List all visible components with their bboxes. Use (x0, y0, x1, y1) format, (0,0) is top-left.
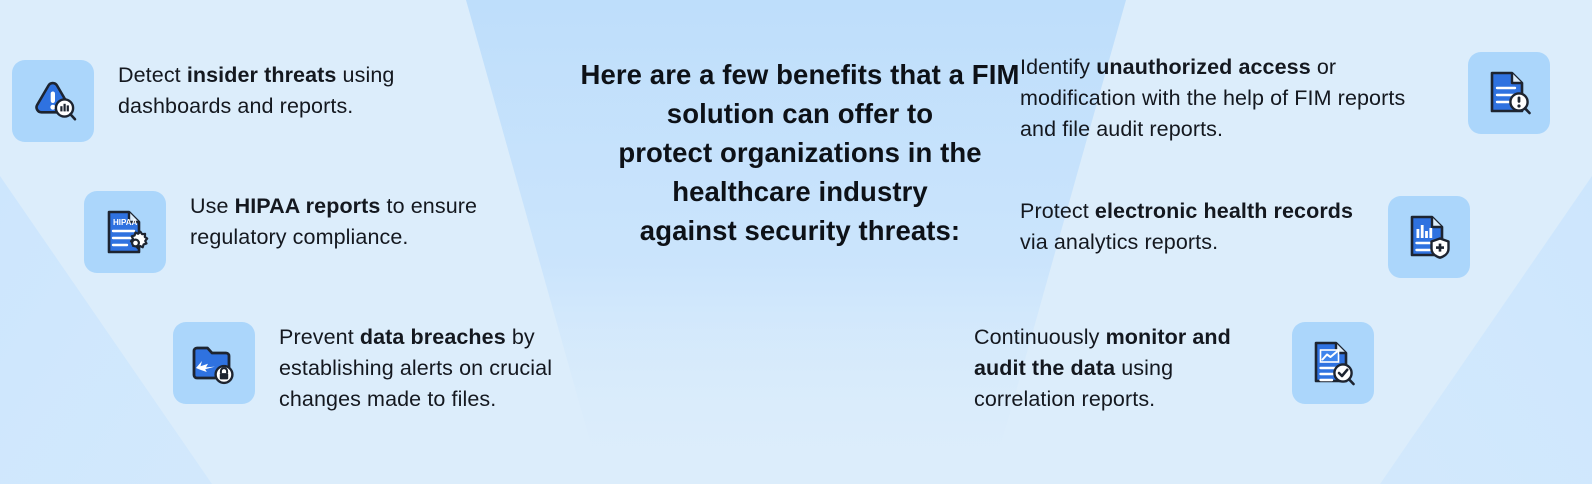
text-bold: data breaches (360, 325, 506, 349)
warning-analytics-icon (27, 75, 79, 127)
svg-text:HIPAA: HIPAA (113, 218, 138, 227)
document-graph-verified-icon-tile (1292, 322, 1374, 404)
benefit-hipaa-reports: HIPAA Use HIPAA reports to ensure regula… (84, 191, 524, 273)
benefit-hipaa-reports-text: Use HIPAA reports to ensure regulatory c… (190, 191, 524, 253)
headline-line-2: solution can offer to (520, 94, 1080, 133)
document-alert-search-icon-tile (1468, 52, 1550, 134)
document-chart-shield-icon (1404, 212, 1454, 262)
document-chart-shield-icon-tile (1388, 196, 1470, 278)
text-bold: unauthorized access (1096, 55, 1311, 79)
warning-analytics-icon-tile (12, 60, 94, 142)
benefit-insider-threats-text: Detect insider threats using dashboards … (118, 60, 472, 122)
page-title: Here are a few benefits that a FIM solut… (520, 55, 1080, 250)
fim-healthcare-benefits-infographic: Detect insider threats using dashboards … (0, 0, 1592, 484)
headline-line-3: protect organizations in the (520, 133, 1080, 172)
broken-folder-lock-icon-tile (173, 322, 255, 404)
document-graph-verified-icon (1308, 338, 1358, 388)
hipaa-document-gear-icon-tile: HIPAA (84, 191, 166, 273)
text-pre: Use (190, 194, 235, 218)
text-pre: Continuously (974, 325, 1106, 349)
benefit-monitor-audit-data: Continuously monitor and audit the data … (974, 322, 1374, 415)
document-alert-search-icon (1484, 68, 1534, 118)
text-pre: Detect (118, 63, 187, 87)
text-bold: electronic health records (1095, 199, 1353, 223)
benefit-unauthorized-access: Identify unauthorized access or modifica… (1020, 52, 1550, 145)
headline-line-4: healthcare industry (520, 172, 1080, 211)
headline-line-1: Here are a few benefits that a FIM (520, 55, 1080, 94)
benefit-data-breaches: Prevent data breaches by establishing al… (173, 322, 613, 415)
benefit-electronic-health-records: Protect electronic health records via an… (1020, 196, 1470, 278)
headline-line-5: against security threats: (520, 211, 1080, 250)
text-bold: insider threats (187, 63, 337, 87)
hipaa-document-gear-icon: HIPAA (100, 207, 150, 257)
benefit-data-breaches-text: Prevent data breaches by establishing al… (279, 322, 613, 415)
benefit-insider-threats: Detect insider threats using dashboards … (12, 60, 472, 142)
benefit-unauthorized-access-text: Identify unauthorized access or modifica… (1020, 52, 1444, 145)
text-pre: Prevent (279, 325, 360, 349)
text-bold: HIPAA reports (235, 194, 381, 218)
benefit-monitor-audit-data-text: Continuously monitor and audit the data … (974, 322, 1268, 415)
broken-folder-lock-icon (188, 337, 240, 389)
